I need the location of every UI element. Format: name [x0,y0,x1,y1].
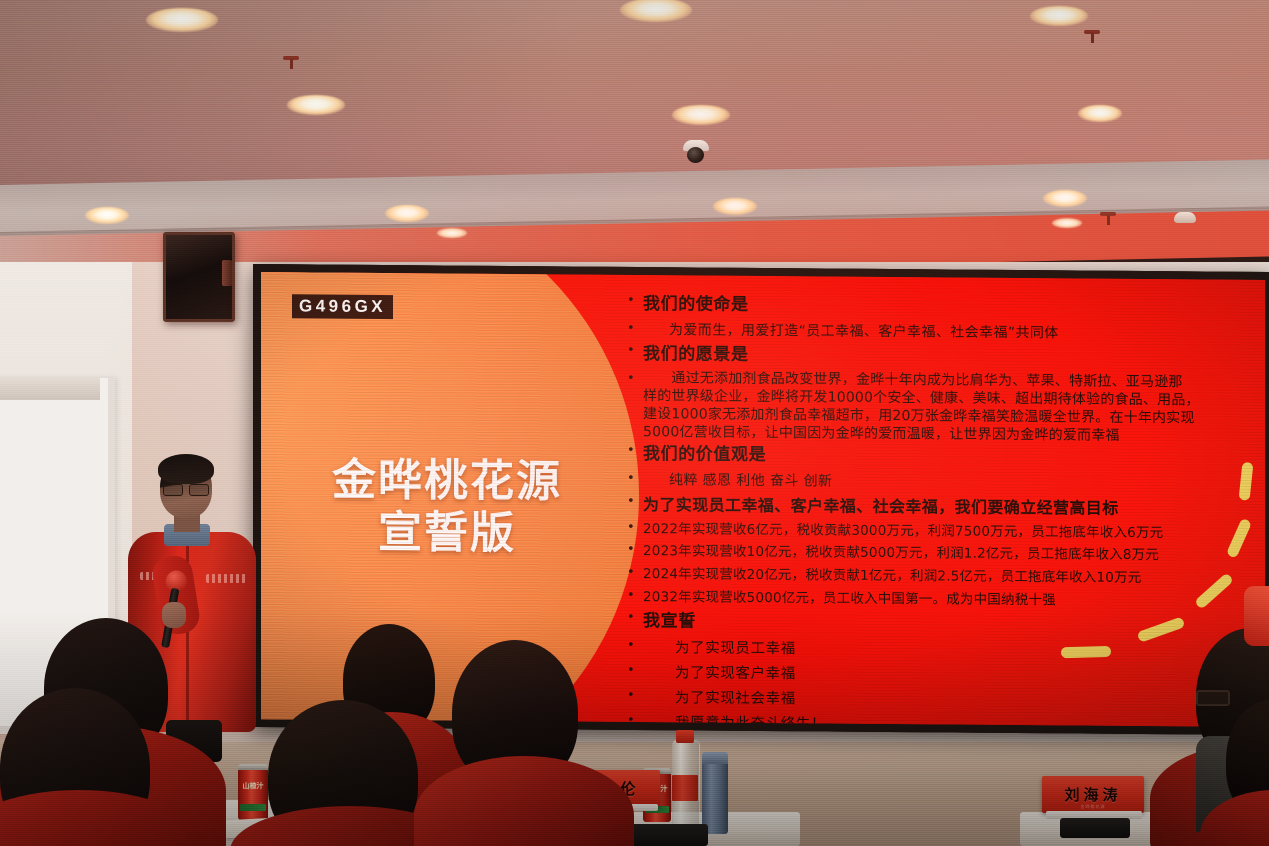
slide-bullet-text: 为了实现社会幸福 [643,686,796,712]
sprinkler-head-icon [1084,30,1100,44]
bullet-dot-icon: • [627,291,643,311]
speaker-bracket [222,260,232,286]
dome-camera-icon [683,140,709,164]
downlight-icon [385,205,429,222]
thermos [702,760,728,834]
audience-shoulder [1244,586,1269,646]
presenter-hand [162,602,186,628]
downlight-icon [437,228,467,238]
downlight-icon [713,198,757,215]
thermos-cap [702,752,728,764]
slide-bullet-text: 通过无添加剂食品改变世界，金晔十年内成为比肩华为、苹果、特斯拉、亚马逊那样的世界… [643,369,1200,446]
downlight-icon [85,207,129,224]
presenter-jacket-logo [206,574,246,583]
slide-bullet-text: 为爱而生，用爱打造“员工幸福、客户幸福、社会幸福”共同体 [643,319,1059,345]
door-header [0,378,100,400]
bullet-dot-icon: • [627,586,643,606]
bullet-dot-icon: • [627,540,643,560]
bullet-dot-icon: • [627,341,643,361]
can-label-band [240,804,266,811]
presenter-hair [158,454,214,484]
bullet-dot-icon: • [627,608,643,628]
slide-title-line1: 金晔桃花源 [297,456,597,506]
desk-device [630,824,708,846]
bullet-dot-icon: • [627,563,643,583]
slide-body: •我们的使命是•为爱而生，用爱打造“员工幸福、客户幸福、社会幸福”共同体•我们的… [627,291,1265,727]
can-lid [238,764,268,770]
slide-bullet-text: 纯粹 感恩 利他 奋斗 创新 [643,469,832,493]
conference-room-photo: G496GX 金晔桃花源 宣誓版 •我们的使命是•为爱而生，用爱打造“员工幸福、… [0,0,1269,846]
can-label: 山楂汁 [238,782,268,790]
slide-logo-text: G496GX [299,297,386,315]
bullet-dot-icon: • [627,686,643,706]
glasses-icon [1196,690,1230,706]
slide-bullet-text: 2032年实现营收5000亿元，员工收入中国第一。成为中国纳税十强 [643,586,1056,612]
slide-bullet-text: 我们的使命是 [643,291,749,319]
downlight-icon [146,8,218,32]
sprinkler-head-icon [283,56,299,70]
downlight-icon [1043,190,1087,207]
slide-bullet-text: 我宣誓 [643,608,696,636]
downlight-icon [1030,6,1088,26]
slide-bullet-text: 我们的价值观是 [643,442,766,470]
bullet-dot-icon: • [627,492,643,512]
bullet-dot-icon: • [627,441,643,461]
placard-subtext: 金晔桃花源 [1042,804,1144,810]
decorative-dash-icon [1061,646,1111,658]
downlight-icon [1052,218,1082,228]
bottle-label [672,775,698,801]
beverage-can [238,768,268,820]
bullet-dot-icon: • [627,518,643,538]
bullet-dot-icon: • [627,318,643,338]
slide-bullet-text: 我们的愿景是 [643,341,749,369]
desk-device [1060,818,1130,838]
slide-logo: G496GX [292,294,393,319]
placard-name: 刘海涛 [1064,784,1121,805]
bottle-cap [676,730,694,743]
downlight-icon [287,95,345,115]
name-placard: 刘海涛 金晔桃花源 [1042,776,1144,813]
slide-title: 金晔桃花源 宣誓版 [297,456,597,557]
downlight-icon [1078,105,1122,122]
smoke-detector-icon [1174,212,1196,223]
slide-bullet-vision-body: • 通过无添加剂食品改变世界，金晔十年内成为比肩华为、苹果、特斯拉、亚马逊那样的… [627,369,1265,447]
bullet-dot-icon: • [627,636,643,656]
slide-bullet-text: 为了实现员工幸福 [643,636,796,662]
bullet-dot-icon: • [627,369,643,389]
downlight-icon [672,105,730,125]
bullet-dot-icon: • [627,661,643,681]
sprinkler-head-icon [1100,212,1116,226]
bullet-dot-icon: • [627,469,643,489]
glasses-icon [163,484,209,494]
slide-bullet-text: 为了实现员工幸福、客户幸福、社会幸福，我们要确立经营高目标 [643,492,1119,522]
slide-title-line2: 宣誓版 [297,508,597,558]
slide-bullet-text: 为了实现客户幸福 [643,661,796,687]
